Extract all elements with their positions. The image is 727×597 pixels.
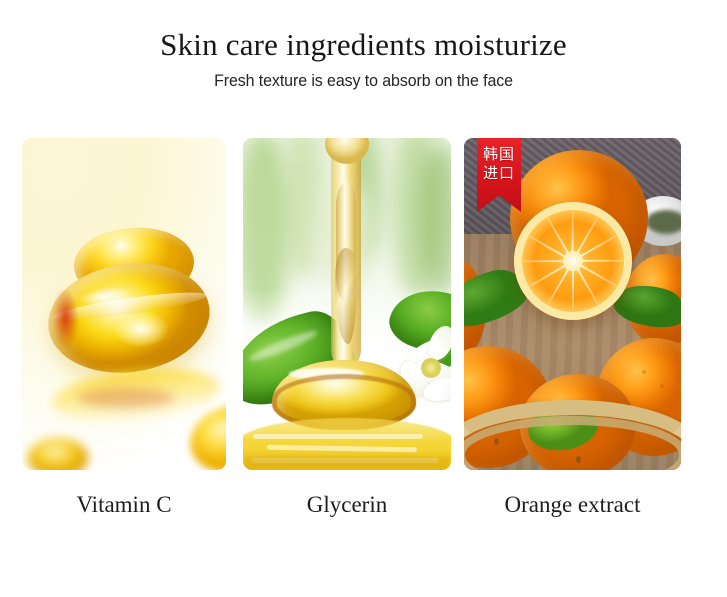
orange-half-cut [514, 202, 632, 320]
orange-core [563, 251, 583, 271]
capsule-highlight [106, 306, 176, 352]
caption-glycerin: Glycerin [243, 489, 451, 521]
bamboo-knot [494, 438, 499, 445]
orange-pore [642, 370, 646, 374]
bamboo-knot [576, 456, 581, 463]
orange-pore [660, 384, 664, 388]
import-badge-line2: 进口 [483, 164, 515, 183]
caption-orange-extract: Orange extract [464, 489, 681, 521]
capsule-reflection-red [78, 388, 174, 408]
ingredient-card-vitamin-c[interactable] [22, 138, 226, 470]
capsule-icon-blurred-left [28, 438, 88, 470]
caption-vitamin-c: Vitamin C [22, 489, 226, 521]
ingredient-card-orange-extract[interactable]: 韩国 进口 [464, 138, 681, 470]
flower-center [421, 358, 441, 378]
oil-pool-band [253, 434, 423, 439]
ingredient-card-glycerin[interactable] [243, 138, 451, 470]
promo-page: Skin care ingredients moisturize Fresh t… [0, 0, 727, 597]
bowl-contents [646, 210, 681, 234]
import-badge-line1: 韩国 [483, 145, 515, 164]
green-bokeh-5 [419, 146, 451, 296]
capsule-red-glint [50, 290, 78, 352]
page-title: Skin care ingredients moisturize [0, 26, 727, 64]
page-subtitle: Fresh texture is easy to absorb on the f… [22, 70, 705, 92]
oil-pool-shadow [243, 456, 451, 470]
